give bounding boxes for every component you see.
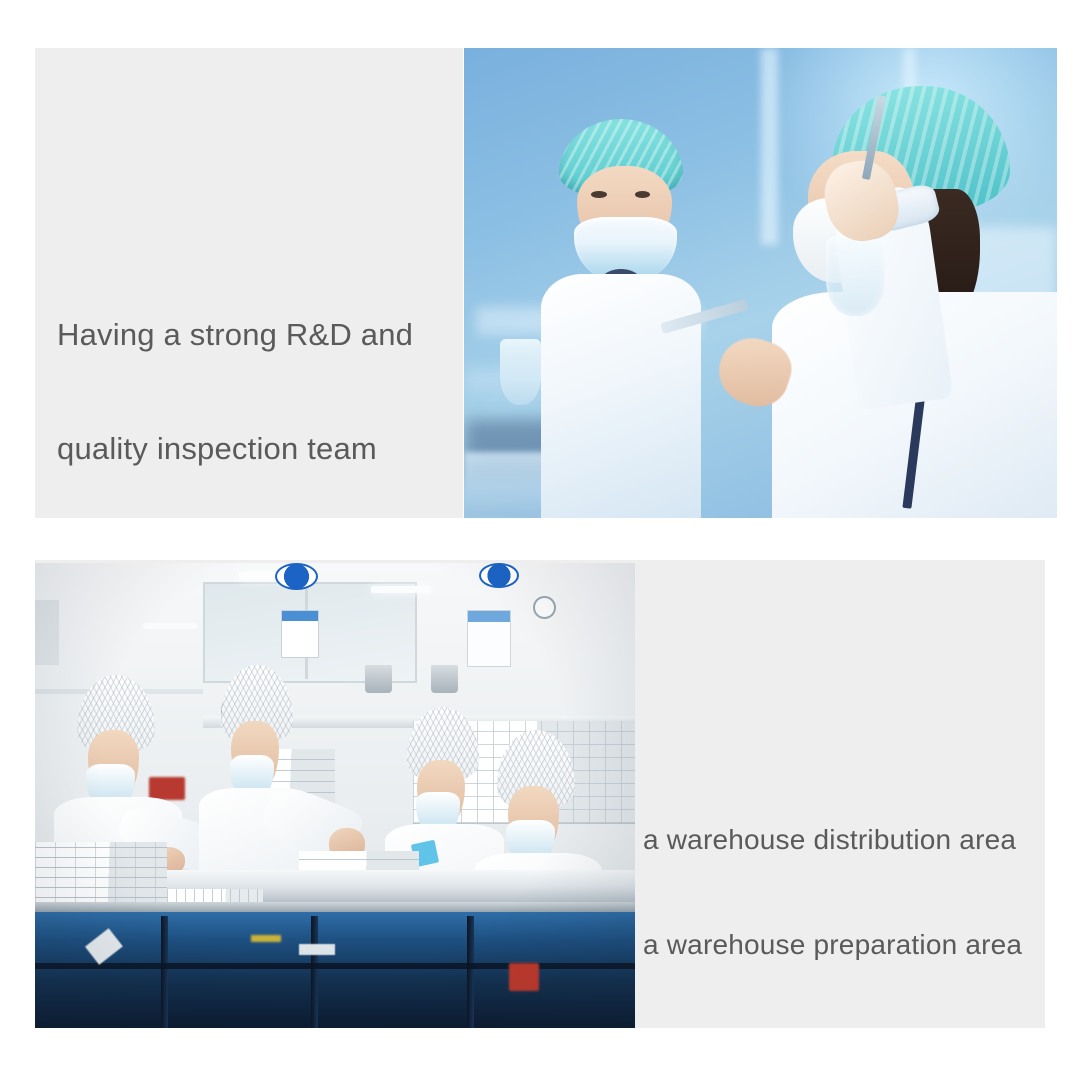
window-frame	[761, 48, 779, 245]
rnd-quality-photo	[464, 48, 1057, 518]
technician-a-lab-coat	[541, 274, 701, 518]
warehouse-photo	[35, 563, 635, 1028]
rnd-quality-caption: Having a strong R&D and quality inspecti…	[57, 240, 413, 506]
caption-line: Having a strong R&D and	[57, 316, 413, 354]
glass-beaker	[500, 339, 542, 405]
caption-line: a warehouse distribution area	[643, 822, 1022, 857]
photo-vignette	[35, 563, 635, 1028]
caption-line: quality inspection team	[57, 430, 413, 468]
caption-line: a warehouse preparation area	[643, 927, 1022, 962]
glass-flask	[826, 236, 885, 316]
warehouse-caption: a warehouse distribution area a warehous…	[643, 752, 1022, 997]
